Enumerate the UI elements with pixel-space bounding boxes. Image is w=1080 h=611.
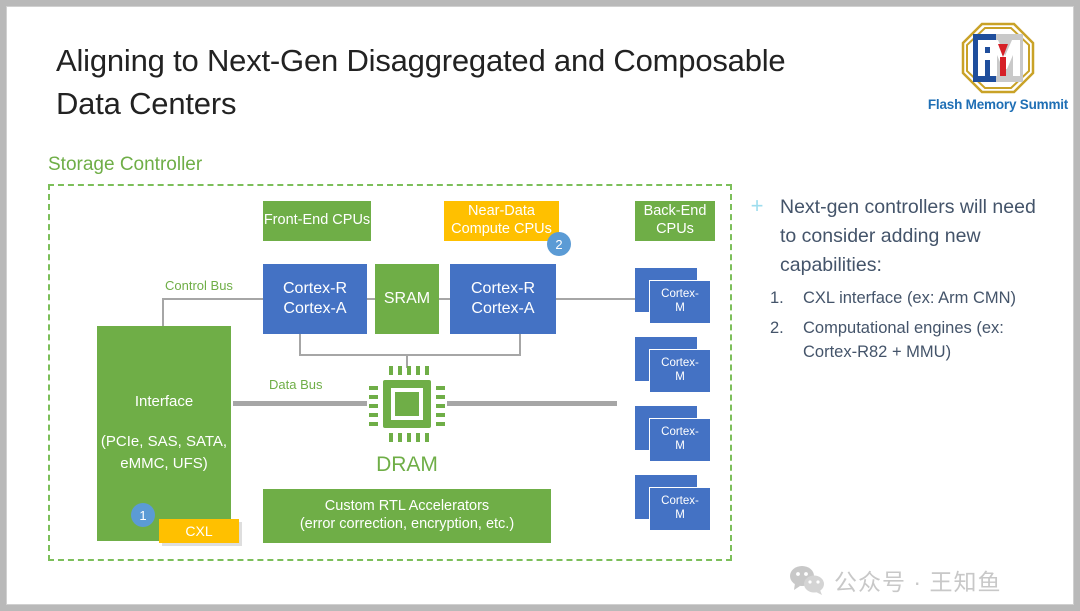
storage-controller-label: Storage Controller	[48, 154, 202, 176]
flash-memory-summit-logo: Flash Memory Summit	[925, 21, 1071, 121]
cortex-ra-right-box[interactable]: Cortex-R Cortex-A	[450, 264, 556, 334]
bracket-left-vertical	[299, 334, 301, 356]
bullet-sub-number-2: 2.	[770, 316, 784, 340]
control-bus-line-vertical	[162, 298, 164, 328]
watermark: 公众号 · 王知鱼	[789, 562, 1001, 598]
control-bus-label: Control Bus	[165, 278, 233, 293]
cortex-m-front-box[interactable]: Cortex- M	[649, 280, 711, 324]
cortex-m-line2: M	[661, 509, 699, 523]
cortex-m-front-box[interactable]: Cortex- M	[649, 418, 711, 462]
rtl-line2: (error correction, encryption, etc.)	[300, 516, 514, 534]
bullet-sub-text-2: Computational engines (ex: Cortex-R82 + …	[803, 319, 1004, 361]
cortex-m-line1: Cortex-	[661, 357, 699, 371]
dram-chip-icon	[367, 364, 447, 444]
cortex-m-line2: M	[661, 371, 699, 385]
cortex-m-line2: M	[661, 440, 699, 454]
cortex-m-front-box[interactable]: Cortex- M	[649, 349, 711, 393]
dram-label: DRAM	[347, 453, 467, 477]
callout-badge-2[interactable]: 2	[547, 232, 571, 256]
bracket-horizontal	[299, 354, 521, 356]
cortex-ra-left-line2: Cortex-A	[283, 299, 347, 319]
front-end-cpus-box[interactable]: Front-End CPUs	[263, 201, 371, 241]
cortex-right-to-cortexm-line	[554, 298, 642, 300]
control-bus-line-horizontal	[162, 298, 264, 300]
interface-detail-line1: (PCIe, SAS, SATA,	[101, 431, 227, 453]
interface-box[interactable]: Interface (PCIe, SAS, SATA, eMMC, UFS)	[97, 326, 231, 541]
custom-rtl-accelerators-box[interactable]: Custom RTL Accelerators (error correctio…	[263, 489, 551, 543]
watermark-text: 公众号 · 王知鱼	[834, 563, 1001, 597]
sram-box[interactable]: SRAM	[375, 264, 439, 334]
cortex-ra-right-line2: Cortex-A	[471, 299, 535, 319]
bullet-sub-number-1: 1.	[770, 286, 784, 310]
data-bus-right-line	[447, 401, 617, 406]
callout-badge-1[interactable]: 1	[131, 503, 155, 527]
bullet-list: + Next-gen controllers will need to cons…	[748, 193, 1048, 370]
cortex-m-line1: Cortex-	[661, 495, 699, 509]
page-title: Aligning to Next-Gen Disaggregated and C…	[56, 39, 846, 125]
fms-logo-icon	[960, 21, 1036, 95]
interface-detail-line2: eMMC, UFS)	[101, 453, 227, 475]
bullet-main-text: Next-gen controllers will need to consid…	[780, 196, 1036, 276]
bullet-sub-list: 1. CXL interface (ex: Arm CMN) 2. Comput…	[748, 286, 1048, 364]
bullet-sub-item-2: 2. Computational engines (ex: Cortex-R82…	[748, 316, 1048, 364]
cortex-ra-left-box[interactable]: Cortex-R Cortex-A	[263, 264, 367, 334]
cortex-ra-right-line1: Cortex-R	[471, 279, 535, 299]
cortex-m-group[interactable]: B Cortex- M	[635, 337, 711, 393]
cxl-tag[interactable]: CXL	[159, 519, 239, 543]
cortex-m-group[interactable]: B Cortex- M	[635, 406, 711, 462]
bullet-sub-item-1: 1. CXL interface (ex: Arm CMN)	[748, 286, 1048, 310]
cortex-m-line1: Cortex-	[661, 288, 699, 302]
back-end-cpus-box[interactable]: Back-End CPUs	[635, 201, 715, 241]
slide-canvas: Aligning to Next-Gen Disaggregated and C…	[6, 6, 1074, 605]
cortex-m-group[interactable]: B Cortex- M	[635, 475, 711, 531]
bullet-main-item: + Next-gen controllers will need to cons…	[748, 193, 1048, 280]
cortex-m-front-box[interactable]: Cortex- M	[649, 487, 711, 531]
data-bus-left-line	[233, 401, 367, 406]
data-bus-label: Data Bus	[269, 377, 322, 392]
interface-title: Interface	[135, 393, 193, 411]
logo-caption: Flash Memory Summit	[925, 97, 1071, 112]
wechat-icon	[789, 565, 825, 595]
cortex-m-line2: M	[661, 302, 699, 316]
rtl-line1: Custom RTL Accelerators	[300, 498, 514, 516]
plus-bullet-icon: +	[748, 197, 766, 215]
near-data-compute-cpus-box[interactable]: Near-Data Compute CPUs	[444, 201, 559, 241]
cortex-m-group[interactable]: B Cortex- M	[635, 268, 711, 324]
cortex-ra-left-line1: Cortex-R	[283, 279, 347, 299]
cortex-m-line1: Cortex-	[661, 426, 699, 440]
bullet-sub-text-1: CXL interface (ex: Arm CMN)	[803, 289, 1016, 307]
bracket-right-vertical	[519, 334, 521, 356]
